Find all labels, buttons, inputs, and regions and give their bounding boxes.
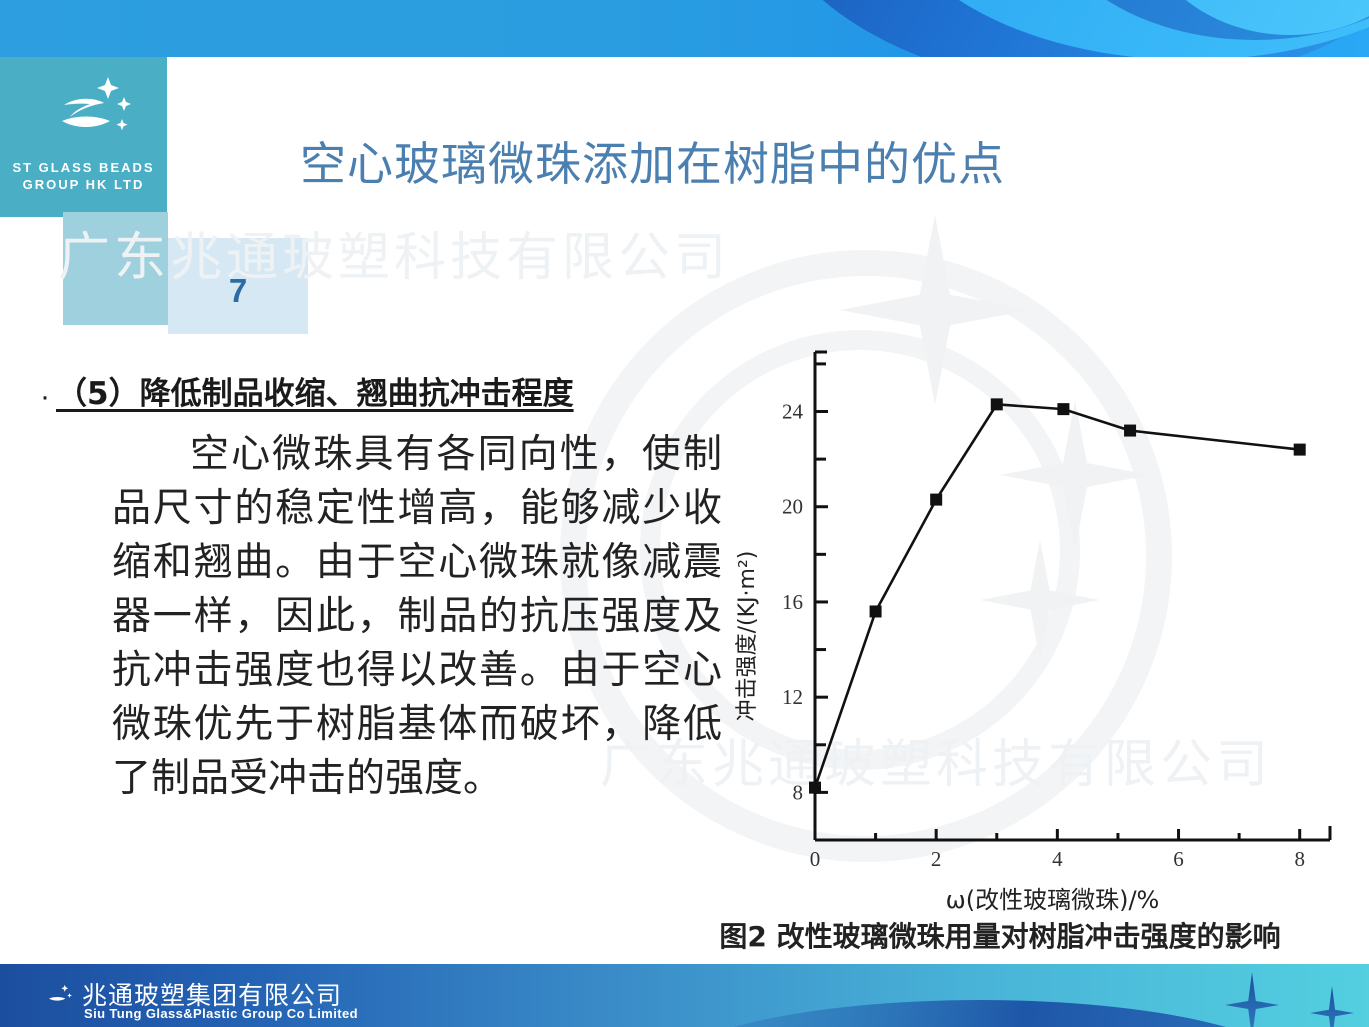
data-point-marker	[1124, 425, 1136, 437]
x-axis-label: ω(改性玻璃微珠)/%	[946, 886, 1160, 914]
x-tick-label: 0	[810, 847, 821, 871]
page-title: 空心玻璃微珠添加在树脂中的优点	[300, 128, 1180, 194]
sparkle-icon	[1310, 986, 1354, 1027]
top-banner	[0, 0, 1369, 57]
series-line	[815, 404, 1300, 787]
decor-block-teal	[63, 212, 168, 325]
section-heading-text: （5）降低制品收缩、翘曲抗冲击程度	[56, 368, 574, 413]
page-number: 7	[168, 272, 308, 310]
footer-company-en: Siu Tung Glass&Plastic Group Co Limited	[84, 1006, 358, 1021]
section-heading: · （5）降低制品收缩、翘曲抗冲击程度	[40, 368, 760, 413]
data-point-marker	[930, 494, 942, 506]
x-tick-label: 8	[1294, 847, 1305, 871]
footer-swoosh	[660, 1000, 1300, 1027]
slide-footer: 兆通玻塑集团有限公司 Siu Tung Glass&Plastic Group …	[0, 964, 1369, 1027]
impact-strength-chart: 81216202402468ω(改性玻璃微珠)/%冲击强度/(KJ·m²)	[720, 330, 1360, 930]
y-tick-label: 8	[793, 780, 804, 804]
y-tick-label: 12	[782, 685, 803, 709]
glass-beads-logo-icon	[30, 71, 135, 156]
data-point-marker	[1057, 403, 1069, 415]
data-point-marker	[1294, 444, 1306, 456]
figure-caption: 图2 改性玻璃微珠用量对树脂冲击强度的影响	[640, 915, 1360, 955]
slide: ST GLASS BEADS GROUP HK LTD 7 广东兆通玻塑科技有限…	[0, 0, 1369, 1027]
bullet-icon: ·	[40, 382, 50, 412]
x-tick-label: 2	[931, 847, 942, 871]
data-point-marker	[870, 605, 882, 617]
x-tick-label: 4	[1052, 847, 1063, 871]
chart-svg: 81216202402468ω(改性玻璃微珠)/%冲击强度/(KJ·m²)	[720, 330, 1360, 930]
x-tick-label: 6	[1173, 847, 1184, 871]
footer-logo-icon	[38, 978, 74, 1014]
y-tick-label: 16	[782, 590, 803, 614]
sparkle-icon	[1225, 972, 1279, 1027]
data-point-marker	[809, 782, 821, 794]
data-point-marker	[991, 398, 1003, 410]
y-tick-label: 24	[782, 400, 804, 424]
logo-wordmark-line2: GROUP HK LTD	[0, 176, 167, 193]
company-logo-tile: ST GLASS BEADS GROUP HK LTD	[0, 57, 167, 217]
logo-wordmark-line1: ST GLASS BEADS	[0, 159, 167, 176]
y-tick-label: 20	[782, 495, 803, 519]
logo-wordmark: ST GLASS BEADS GROUP HK LTD	[0, 159, 167, 193]
y-axis-label: 冲击强度/(KJ·m²)	[735, 551, 760, 722]
body-paragraph: 空心微珠具有各同向性，使制品尺寸的稳定性增高，能够减少收缩和翘曲。由于空心微珠就…	[112, 428, 722, 806]
